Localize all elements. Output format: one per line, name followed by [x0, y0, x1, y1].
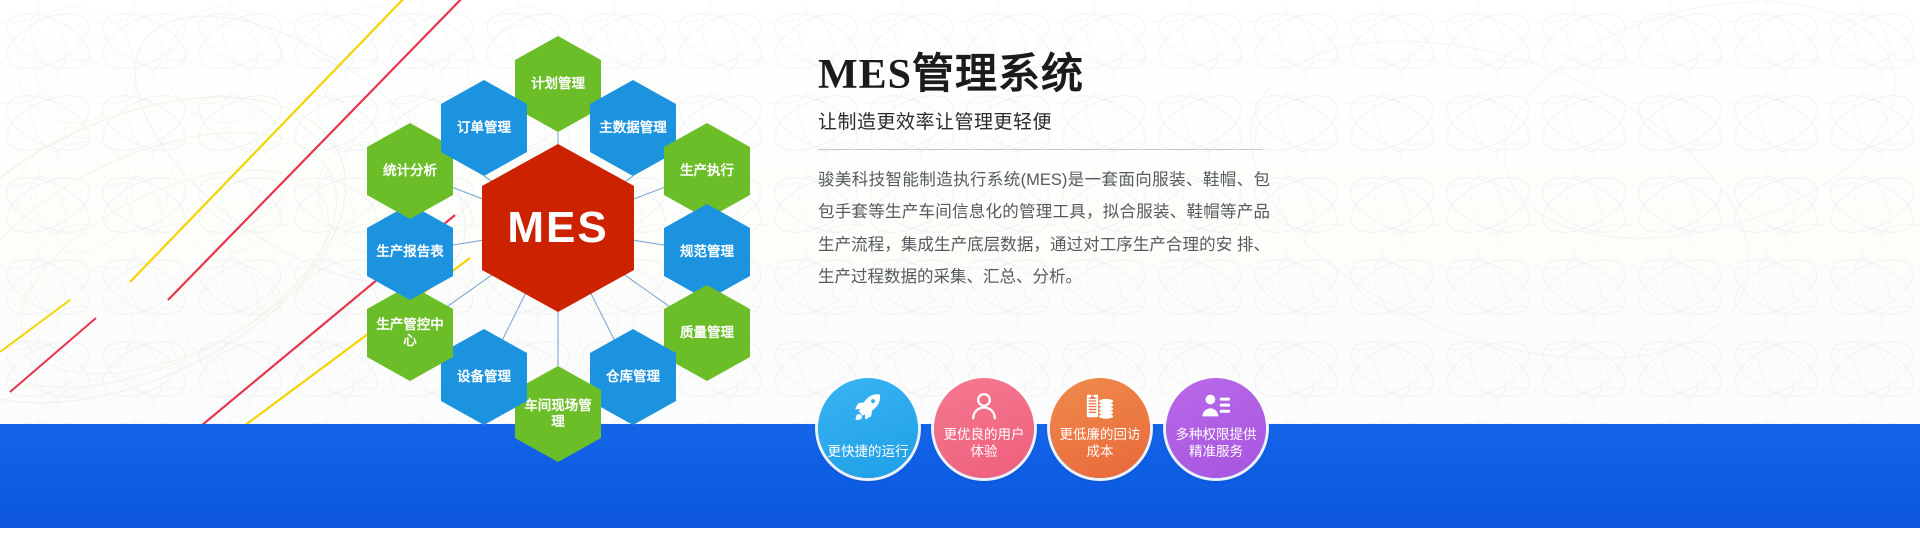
diagram-node-7[interactable]: 设备管理 [441, 329, 527, 425]
diagram-node-11[interactable]: 订单管理 [441, 80, 527, 176]
svg-text:¥: ¥ [1091, 394, 1095, 401]
diagram-node-label-7: 设备管理 [452, 369, 516, 385]
diagram-node-label-11: 订单管理 [452, 120, 516, 136]
hero-text-column: MES管理系统 让制造更效率让管理更轻便 骏美科技智能制造执行系统(MES)是一… [818, 52, 1288, 293]
mes-hexagon-diagram: MES 计划管理 主数据管理 生产执行 规范管理 质量管理 仓库管理 车间现场管… [330, 18, 790, 438]
diagram-center-node: MES [482, 144, 634, 312]
diagram-node-label-0: 计划管理 [526, 76, 590, 92]
diagram-node-label-5: 仓库管理 [601, 369, 665, 385]
feature-badge-fast-operation[interactable]: 更快捷的运行 [818, 378, 918, 478]
page-subtitle: 让制造更效率让管理更轻便 [818, 107, 1288, 134]
mes-promo-banner: MES 计划管理 主数据管理 生产执行 规范管理 质量管理 仓库管理 车间现场管… [0, 0, 1920, 550]
feature-badge-low-cost[interactable]: ¥ 更低廉的回访成本 [1050, 378, 1150, 478]
feature-badge-label-1: 更优良的用户体验 [934, 427, 1034, 478]
rocket-icon [853, 391, 883, 421]
feature-badge-label-3: 多种权限提供精准服务 [1166, 427, 1266, 478]
diagram-node-label-10: 统计分析 [378, 163, 442, 179]
page-title: MES管理系统 [818, 52, 1288, 98]
feature-badge-user-experience[interactable]: 更优良的用户体验 [934, 378, 1034, 478]
money-stack-icon: ¥ [1085, 391, 1115, 421]
diagram-node-1[interactable]: 主数据管理 [590, 80, 676, 176]
diagram-node-label-9: 生产报告表 [371, 244, 449, 260]
feature-badge-list: 更快捷的运行 更优良的用户体验 [818, 378, 1266, 478]
background-bottom-strip [0, 528, 1920, 550]
diagram-node-label-6: 车间现场管理 [515, 398, 601, 430]
diagram-node-0[interactable]: 计划管理 [515, 36, 601, 132]
diagram-node-label-4: 质量管理 [675, 325, 739, 341]
feature-badge-label-2: 更低廉的回访成本 [1050, 427, 1150, 478]
diagram-node-label-1: 主数据管理 [594, 120, 672, 136]
hero-description: 骏美科技智能制造执行系统(MES)是一套面向服装、鞋帽、包包手套等生产车间信息化… [818, 164, 1270, 293]
diagram-node-label-2: 生产执行 [675, 163, 739, 179]
diagram-node-5[interactable]: 仓库管理 [590, 329, 676, 425]
feature-badge-permissions[interactable]: 多种权限提供精准服务 [1166, 378, 1266, 478]
diagram-node-label-3: 规范管理 [675, 244, 739, 260]
diagram-center-label: MES [502, 202, 613, 254]
diagram-node-label-8: 生产管控中心 [367, 317, 453, 349]
diagram-node-4[interactable]: 质量管理 [664, 285, 750, 381]
user-icon [969, 391, 999, 421]
diagram-node-10[interactable]: 统计分析 [367, 123, 453, 219]
title-divider [818, 149, 1263, 150]
feature-badge-label-0: 更快捷的运行 [821, 444, 916, 478]
permissions-icon [1201, 391, 1231, 421]
